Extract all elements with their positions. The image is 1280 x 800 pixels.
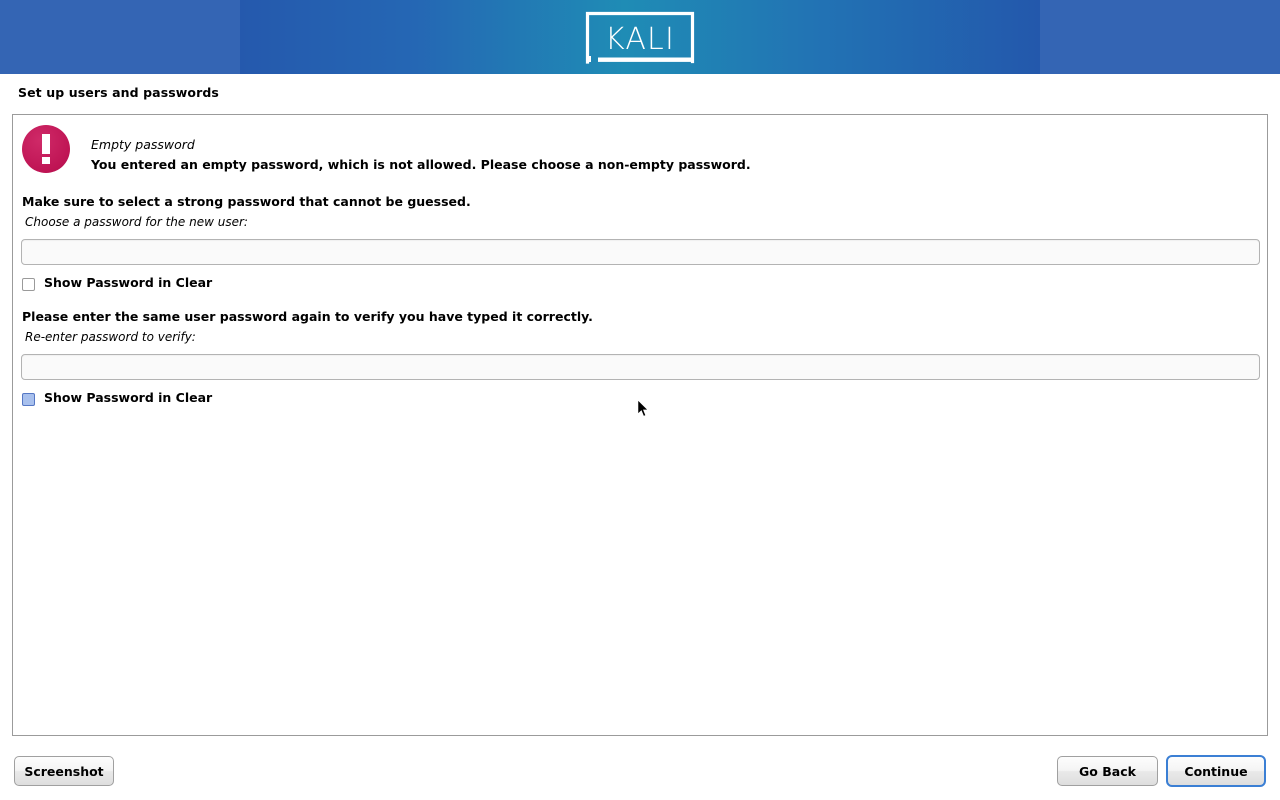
show-password-clear-label-2: Show Password in Clear xyxy=(44,390,212,405)
page-title: Set up users and passwords xyxy=(18,85,219,100)
verify-password-heading: Please enter the same user password agai… xyxy=(22,309,593,324)
exclamation-bar xyxy=(42,134,50,154)
show-password-clear-checkbox-2[interactable] xyxy=(22,393,35,406)
password-field-label: Choose a password for the new user: xyxy=(25,215,248,229)
verify-field-label: Re-enter password to verify: xyxy=(25,330,196,344)
main-content-panel: Empty password You entered an empty pass… xyxy=(12,114,1268,736)
exclamation-dot xyxy=(42,157,50,164)
error-message: You entered an empty password, which is … xyxy=(91,157,751,172)
kali-logo-icon: KALI xyxy=(583,10,697,65)
continue-button[interactable]: Continue xyxy=(1166,755,1266,787)
installer-banner: KALI xyxy=(0,0,1280,74)
verify-password-input[interactable] xyxy=(21,354,1260,380)
password-input[interactable] xyxy=(21,239,1260,265)
show-password-clear-label-1: Show Password in Clear xyxy=(44,275,212,290)
go-back-button[interactable]: Go Back xyxy=(1057,756,1158,786)
show-password-clear-checkbox-1[interactable] xyxy=(22,278,35,291)
error-exclamation-icon xyxy=(22,125,70,173)
password-strength-heading: Make sure to select a strong password th… xyxy=(22,194,471,209)
kali-logo-text: KALI xyxy=(605,22,675,57)
error-title: Empty password xyxy=(91,137,195,152)
screenshot-button[interactable]: Screenshot xyxy=(14,756,114,786)
